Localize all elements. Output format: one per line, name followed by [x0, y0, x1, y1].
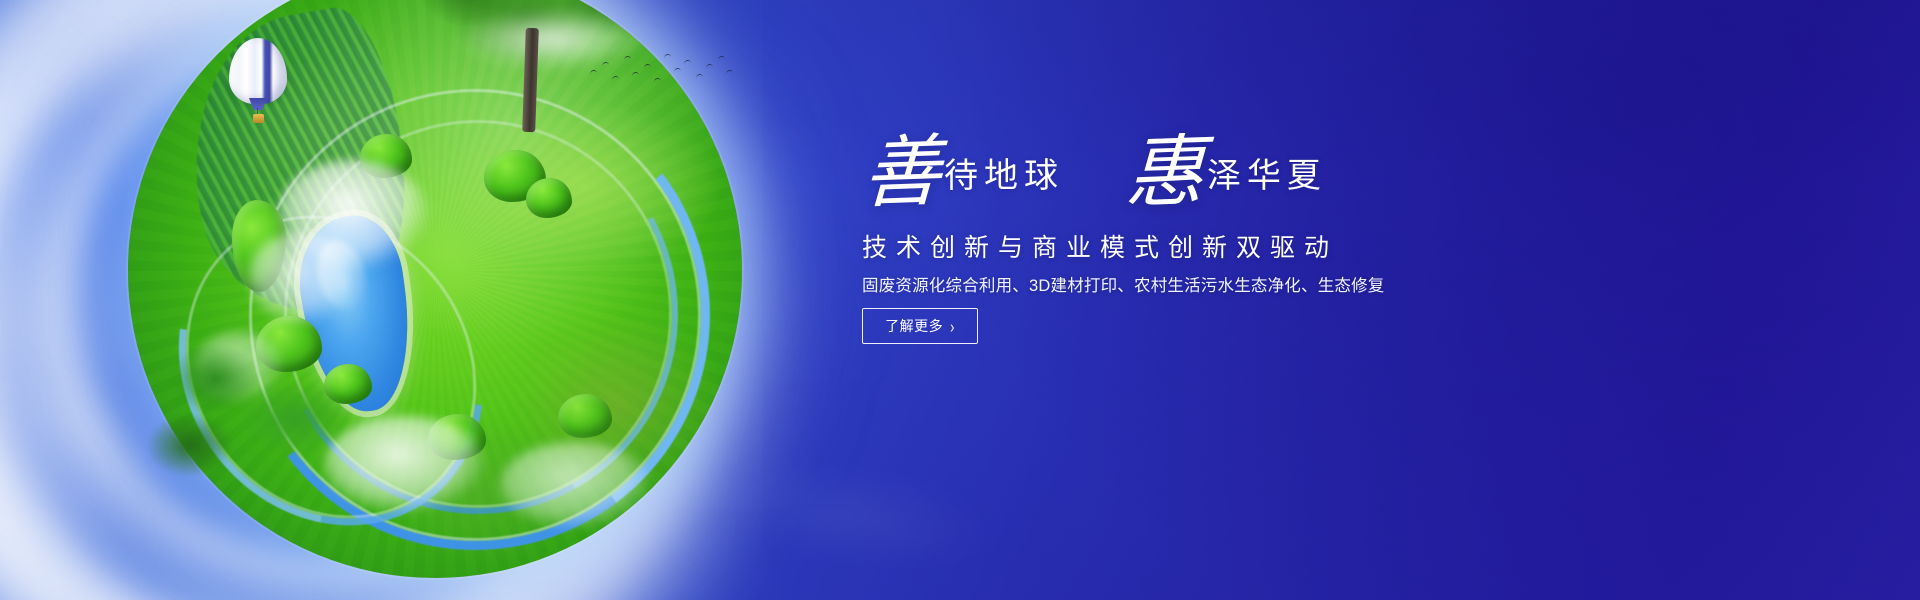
headline-char-shan: 善	[861, 133, 942, 214]
headline-text-daidiqiu: 待地球	[944, 160, 1064, 194]
foreground-tree	[140, 300, 390, 520]
balloon-basket	[253, 114, 264, 123]
balloon-skirt	[249, 98, 267, 110]
learn-more-label: 了解更多	[885, 316, 943, 336]
banner-content: 善 待地球 惠 泽华夏 技术创新与商业模式创新双驱动 固废资源化综合利用、3D建…	[862, 0, 1562, 600]
headline-phrase-2: 惠 泽华夏	[1125, 128, 1327, 206]
headline-text-zehuaxia: 泽华夏	[1207, 160, 1327, 194]
learn-more-button[interactable]: 了解更多 ›	[862, 308, 978, 344]
tree-canopy	[140, 300, 390, 520]
hero-banner: 善 待地球 惠 泽华夏 技术创新与商业模式创新双驱动 固废资源化综合利用、3D建…	[0, 0, 1920, 600]
headline-phrase-1: 善 待地球	[862, 128, 1064, 206]
headline-char-hui: 惠	[1124, 133, 1205, 214]
hot-air-balloon-icon	[229, 38, 287, 124]
shrub	[558, 394, 612, 438]
chevron-right-icon: ›	[950, 317, 955, 335]
subtitle: 技术创新与商业模式创新双驱动	[862, 228, 1338, 264]
description: 固废资源化综合利用、3D建材打印、农村生活污水生态净化、生态修复	[862, 272, 1385, 296]
surface-cloud	[500, 442, 650, 528]
shrub	[526, 178, 572, 218]
balloon-envelope	[229, 38, 287, 104]
headline: 善 待地球 惠 泽华夏	[862, 128, 1562, 224]
tree-trunk	[522, 28, 539, 132]
birds-flock	[586, 46, 736, 100]
